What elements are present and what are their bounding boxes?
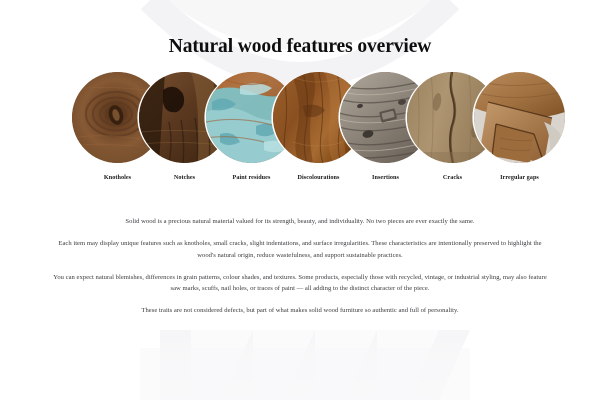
feature-label-row: Knotholes Notches Paint residues Discolo… [0,173,600,187]
irregular-gap-wood-swatch [474,72,565,163]
feature-swatch-strip [0,72,600,168]
document-page: Natural wood features overview [0,0,600,400]
body-paragraph-3: You can expect natural blemishes, differ… [46,272,554,295]
feature-label-irregular-gaps: Irregular gaps [474,173,565,182]
feature-item-irregular-gaps [474,72,565,163]
body-paragraph-1: Solid wood is a precious natural materia… [46,216,554,227]
body-copy: Solid wood is a precious natural materia… [0,216,600,316]
page-title: Natural wood features overview [0,0,600,57]
body-paragraph-4: These traits are not considered defects,… [46,305,554,316]
body-paragraph-2: Each item may display unique features su… [46,238,554,261]
